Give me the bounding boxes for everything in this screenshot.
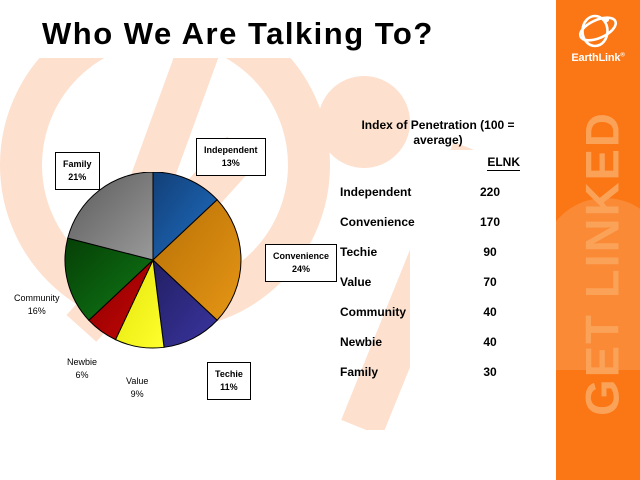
pie-label-techie-pct: 11% [215,381,243,394]
slide-canvas: Who We Are Talking To? [0,0,640,480]
table-row: Value70 [340,275,546,289]
brand-sidebar: GET LINKED EarthLink® [556,0,640,480]
pie-label-convenience: Convenience 24% [265,244,337,282]
table-row-label: Community [340,305,460,319]
registered-mark: ® [620,52,624,58]
table-row-label: Value [340,275,460,289]
table-row-value: 70 [460,275,520,289]
pie-label-family-pct: 21% [63,171,92,184]
pie-chart-svg [62,172,244,362]
table-row: Convenience170 [340,215,546,229]
table-row: Community40 [340,305,546,319]
table-row: Family30 [340,365,546,379]
watermark-mask-bottom [0,430,560,480]
pie-label-value-name: Value [126,376,148,386]
pie-label-community-pct: 16% [14,305,60,318]
pie-label-convenience-pct: 24% [273,263,329,276]
table-row-value: 30 [460,365,520,379]
table-row-label: Newbie [340,335,460,349]
pie-label-family-name: Family [63,159,92,169]
orbit-planet-icon [575,10,621,50]
pie-chart [62,172,244,362]
table-row-value: 90 [460,245,520,259]
pie-label-value: Value 9% [126,375,148,401]
table-rows: Independent220Convenience170Techie90Valu… [340,185,546,379]
table-row-value: 220 [460,185,520,199]
pie-label-family: Family 21% [55,152,100,190]
brand-tagline: GET LINKED [575,54,630,474]
pie-label-newbie-name: Newbie [67,357,97,367]
pie-label-community: Community 16% [14,292,60,318]
table-row: Independent220 [340,185,546,199]
table-row-value: 40 [460,305,520,319]
table-row: Techie90 [340,245,546,259]
earthlink-wordmark-text: EarthLink [571,52,620,64]
table-row-value: 170 [460,215,520,229]
penetration-table: Index of Penetration (100 = average) ELN… [340,118,546,379]
table-row: Newbie40 [340,335,546,349]
pie-label-newbie-pct: 6% [67,369,97,382]
earthlink-wordmark: EarthLink® [556,52,640,64]
pie-label-newbie: Newbie 6% [67,356,97,382]
earthlink-logo: EarthLink® [556,10,640,64]
pie-label-value-pct: 9% [126,388,148,401]
pie-label-convenience-name: Convenience [273,251,329,261]
pie-label-independent-name: Independent [204,145,258,155]
table-column-header-label: ELNK [487,155,520,171]
table-column-header: ELNK [340,155,546,169]
pie-label-independent-pct: 13% [204,157,258,170]
table-row-label: Independent [340,185,460,199]
pie-slices [65,172,241,348]
table-row-value: 40 [460,335,520,349]
pie-label-techie-name: Techie [215,369,243,379]
table-heading: Index of Penetration (100 = average) [340,118,536,148]
slide-title: Who We Are Talking To? [42,16,434,52]
pie-label-independent: Independent 13% [196,138,266,176]
table-row-label: Techie [340,245,460,259]
table-row-label: Convenience [340,215,460,229]
pie-label-community-name: Community [14,293,60,303]
pie-label-techie: Techie 11% [207,362,251,400]
table-row-label: Family [340,365,460,379]
